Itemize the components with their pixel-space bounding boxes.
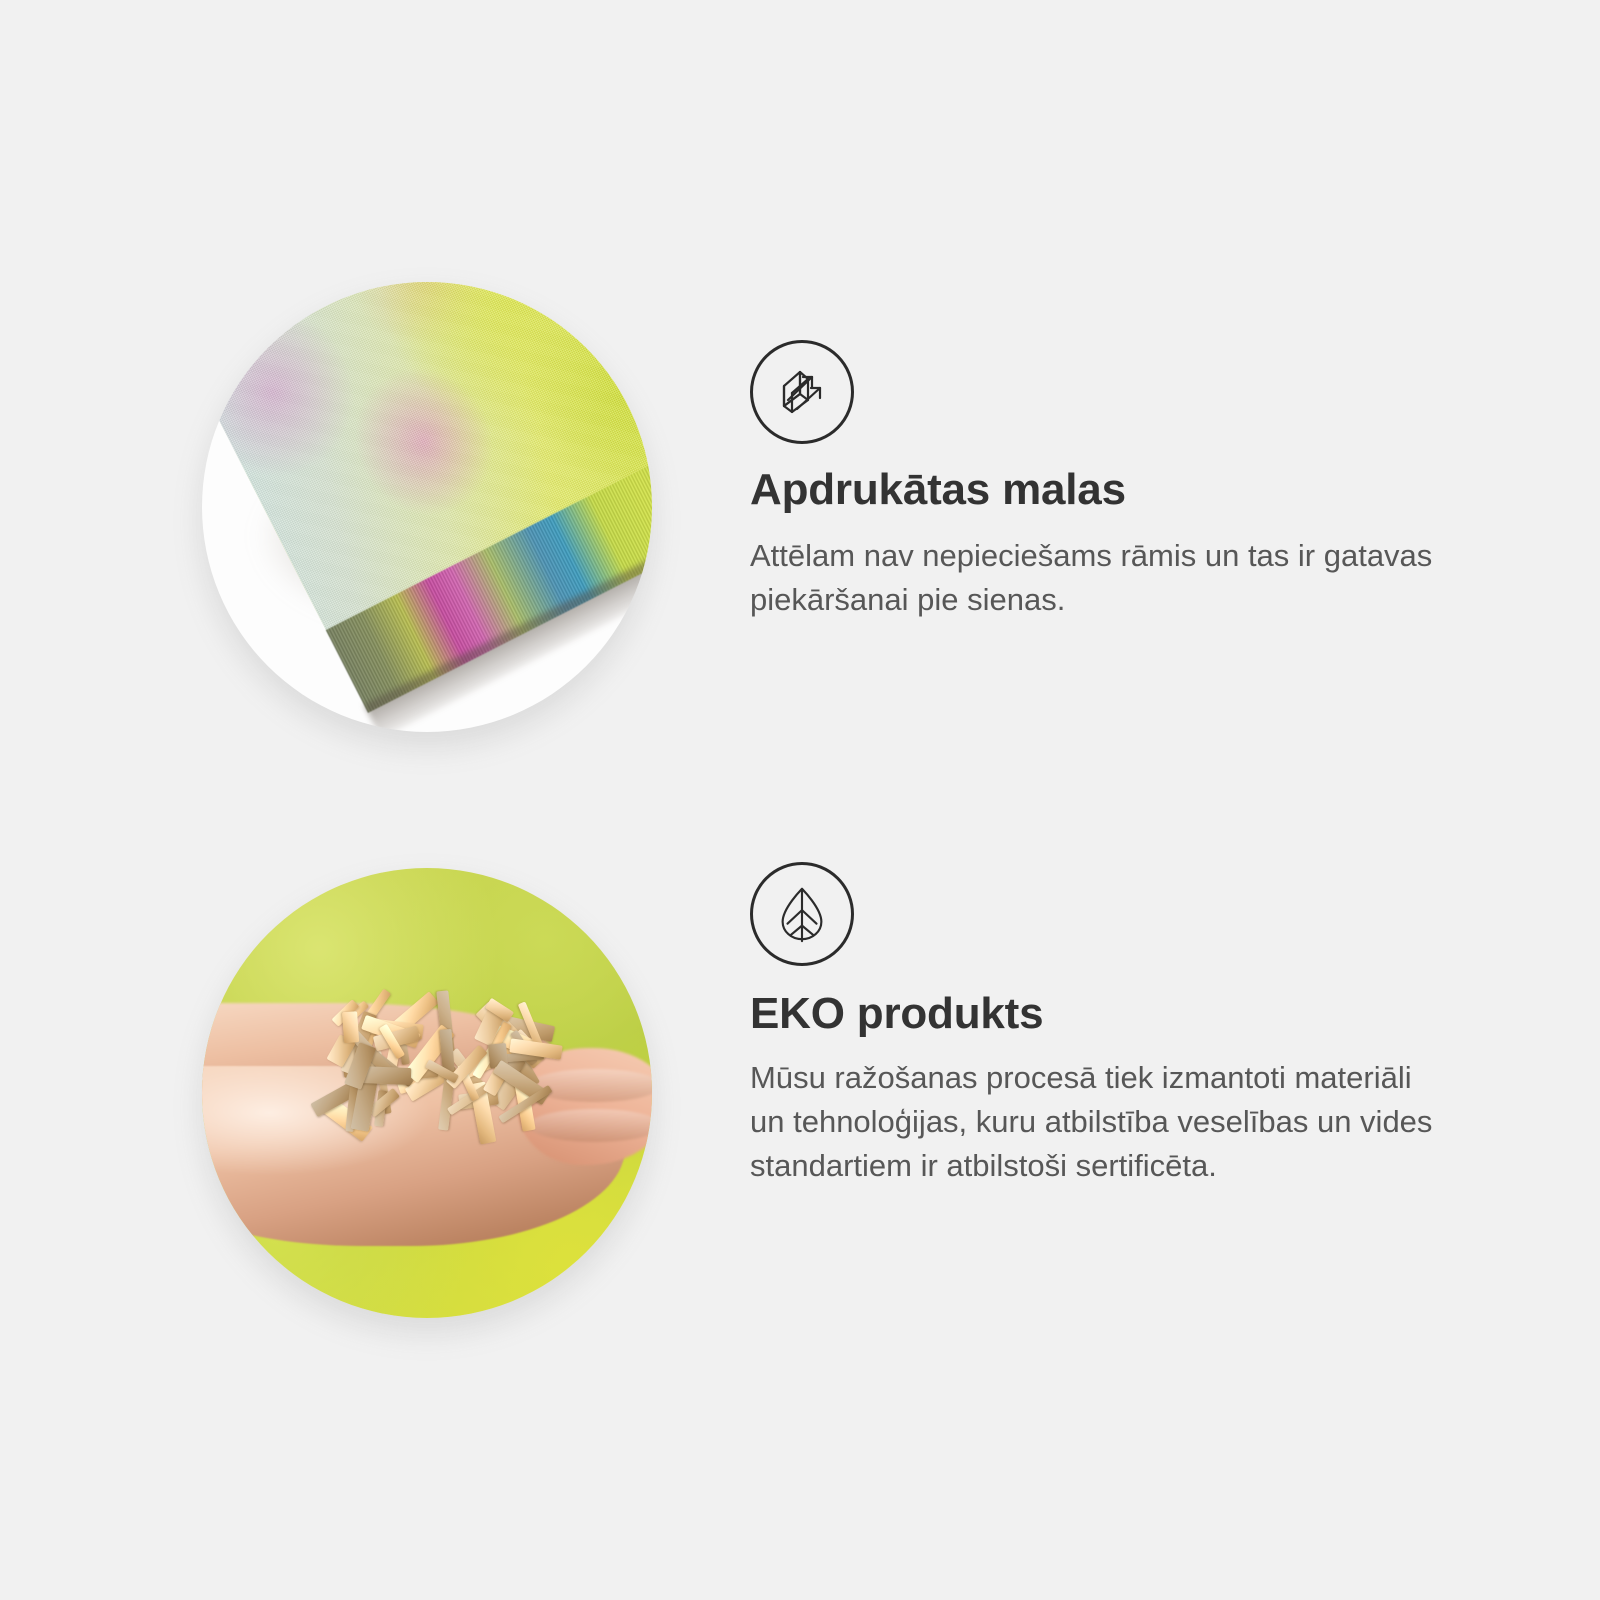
feature-title-eco-product: EKO produkts	[750, 990, 1450, 1038]
wood-chip	[342, 1011, 359, 1043]
canvas-wrapped-edges-glyph	[770, 360, 834, 424]
leaf-glyph	[771, 883, 833, 945]
feature-title-printed-edges: Apdrukātas malas	[750, 466, 1450, 514]
wood-chips-pile	[301, 1003, 562, 1147]
canvas-corner-photo	[202, 282, 652, 732]
leaf-icon	[750, 862, 854, 966]
feature-image-printed-edges	[202, 282, 652, 732]
canvas-wrapped-edges-icon	[750, 340, 854, 444]
feature-description-eco-product: Mūsu ražošanas procesā tiek izmantoti ma…	[750, 1056, 1450, 1188]
feature-description-printed-edges: Attēlam nav nepieciešams rāmis un tas ir…	[750, 534, 1450, 622]
product-feature-page: Apdrukātas malas Attēlam nav nepieciešam…	[0, 0, 1600, 1600]
feature-image-eco-product	[202, 868, 652, 1318]
hands-with-wood-chips-photo	[202, 868, 652, 1318]
